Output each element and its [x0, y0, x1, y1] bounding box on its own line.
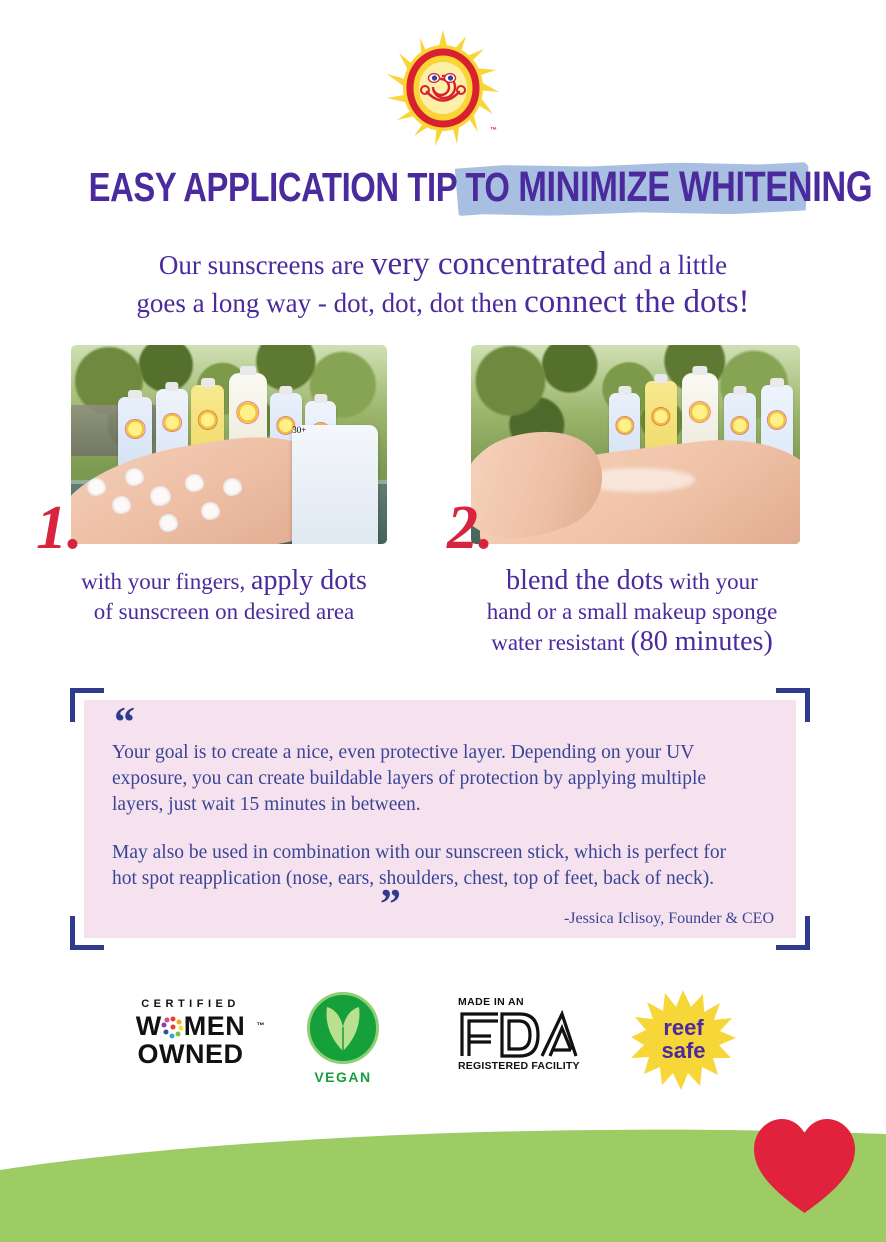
bottle-cap: [240, 366, 256, 375]
founder-quote-block: “ Your goal is to create a nice, even pr…: [70, 688, 810, 950]
trademark-symbol: ™: [490, 127, 497, 134]
sunscreen-dot: [87, 478, 106, 496]
tube-sun-icon: [162, 413, 182, 433]
corner-bracket-top-left: [70, 688, 104, 722]
caption-emphasis: (80 minutes): [630, 626, 772, 657]
subheading-line-1: Our sunscreens are very concentrated and…: [43, 246, 843, 284]
step-2-number: 2.: [447, 497, 494, 559]
quote-paragraph-2: May also be used in combination with our…: [112, 840, 752, 892]
subheading-emphasis: very concentrated: [371, 246, 606, 282]
sunscreen-dot: [185, 474, 204, 492]
women-owned-men: MEN: [184, 1011, 246, 1041]
caption-text: water resistant: [491, 630, 630, 655]
vegan-label: VEGAN: [300, 1069, 386, 1085]
headline: EASY APPLICATION TIP TO MINIMIZE WHITENI…: [0, 162, 886, 216]
tube-cap: [128, 390, 142, 399]
subheading-text: Our sunscreens are: [159, 250, 371, 280]
photo-scene: 30+ 30+ 30+: [471, 345, 800, 544]
held-tube-spf-label: 30+: [292, 425, 377, 435]
tube-cap: [618, 386, 631, 395]
tube-cap: [733, 386, 746, 395]
women-owned-line-2: OWNED: [118, 1040, 263, 1068]
step-1-caption: with your fingers, apply dots of sunscre…: [24, 566, 424, 627]
caption-text: with your: [663, 569, 758, 594]
reef-safe-text: reef safe: [631, 1016, 736, 1062]
headline-text: EASY APPLICATION TIP TO MINIMIZE WHITENI…: [89, 162, 798, 212]
tube-sun-icon: [767, 410, 787, 430]
step-2-photo: 30+ 30+ 30+: [471, 345, 800, 544]
corner-bracket-top-right: [776, 688, 810, 722]
quote-attribution: -Jessica Iclisoy, Founder & CEO: [564, 910, 774, 928]
tube-sun-icon: [125, 419, 146, 440]
fda-top-label: MADE IN AN: [458, 996, 583, 1008]
bottle-cap: [692, 366, 707, 375]
step-2-caption-line-1: blend the dots with your: [432, 566, 832, 597]
reef-safe-line-1: reef: [631, 1016, 736, 1039]
subheading-text: goes a long way - dot, dot, dot then: [136, 288, 524, 318]
tube-cap: [201, 378, 215, 387]
tube-cap: [314, 394, 327, 403]
vegan-leaf-icon: [321, 1003, 365, 1051]
headline-part-2: MINIMIZE WHITENING: [518, 163, 872, 211]
badge-fda-registered: MADE IN AN REGISTERED FACILITY: [458, 996, 583, 1072]
badge-certified-women-owned: CERTIFIED W MEN™ OWNED: [118, 998, 263, 1068]
held-product-tube: 30+: [292, 425, 377, 544]
certification-badges: CERTIFIED W MEN™ OWNED: [0, 990, 886, 1100]
women-owned-tm: ™: [257, 1012, 266, 1040]
sunscreen-dot: [112, 496, 131, 514]
step-2-caption: blend the dots with your hand or a small…: [432, 566, 832, 658]
step-2-caption-line-3: water resistant (80 minutes): [432, 627, 832, 658]
caption-emphasis: apply dots: [251, 565, 367, 596]
women-owned-w: W: [136, 1011, 162, 1041]
sunscreen-dot: [125, 468, 144, 486]
infographic-page: ™ EASY APPLICATION TIP TO MINIMIZE WHITE…: [0, 0, 886, 1242]
heart-icon: [752, 1116, 857, 1216]
headline-part-1: EASY APPLICATION TIP TO: [89, 164, 519, 210]
tube-sun-icon: [651, 407, 670, 426]
badge-reef-safe: reef safe: [631, 990, 736, 1090]
women-owned-line-1: W MEN™: [118, 1012, 263, 1040]
subheading-line-2: goes a long way - dot, dot, dot then con…: [43, 284, 843, 322]
sunscreen-dot: [150, 486, 171, 506]
fda-bottom-label: REGISTERED FACILITY: [458, 1060, 583, 1072]
vegan-circle: [307, 992, 379, 1064]
step-1-caption-line-2: of sunscreen on desired area: [24, 597, 424, 627]
fda-mark-icon: [458, 1010, 578, 1058]
subheading-text: and a little: [606, 250, 727, 280]
reef-safe-line-2: safe: [631, 1039, 736, 1062]
quote-paragraph-1: Your goal is to create a nice, even prot…: [112, 740, 752, 818]
step-1-caption-line-1: with your fingers, apply dots: [24, 566, 424, 597]
subheading: Our sunscreens are very concentrated and…: [43, 246, 843, 322]
california-baby-sun-logo: ™: [383, 28, 503, 148]
tube-cap: [654, 374, 667, 383]
corner-bracket-bottom-right: [776, 916, 810, 950]
tube-sun-icon: [730, 416, 749, 435]
bottle-sun-icon: [688, 401, 710, 423]
sunscreen-dot: [223, 478, 242, 496]
quote-open-mark: “: [114, 702, 135, 744]
tube-cap: [770, 378, 784, 387]
women-owned-certified-label: CERTIFIED: [118, 998, 263, 1010]
caption-emphasis: blend the dots: [506, 565, 663, 596]
caption-text: with your fingers,: [81, 569, 251, 594]
corner-bracket-bottom-left: [70, 916, 104, 950]
sunscreen-dot: [201, 502, 220, 520]
tube-cap: [279, 386, 292, 395]
bottle-sun-icon: [236, 401, 260, 425]
step-1-number: 1.: [36, 497, 83, 559]
step-1-photo: 30+ 30+ 30+ 30+: [71, 345, 387, 544]
tube-sun-icon: [615, 416, 634, 435]
photo-scene: 30+ 30+ 30+ 30+: [71, 345, 387, 544]
subheading-emphasis: connect the dots!: [524, 284, 749, 320]
badge-vegan: VEGAN: [300, 992, 386, 1085]
step-2-caption-line-2: hand or a small makeup sponge: [432, 597, 832, 627]
colorful-burst-icon: [163, 1017, 183, 1037]
quote-close-mark: ”: [380, 884, 401, 926]
quote-text: Your goal is to create a nice, even prot…: [112, 740, 752, 892]
tube-sun-icon: [197, 410, 218, 431]
tube-cap: [165, 382, 178, 391]
